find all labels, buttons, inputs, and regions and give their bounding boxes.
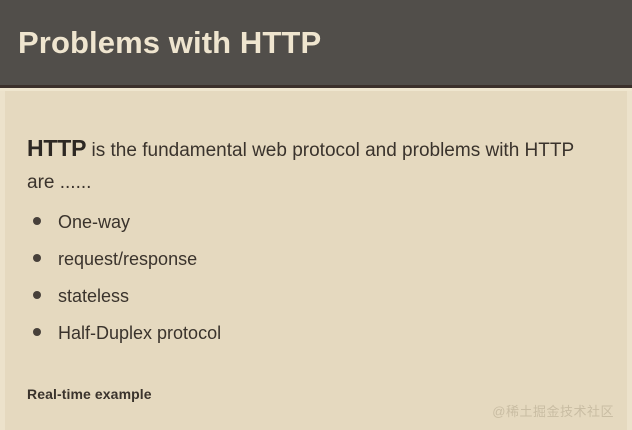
- list-item: request/response: [30, 246, 590, 283]
- slide-edge-right: [627, 91, 632, 430]
- slide-edge-left: [0, 91, 5, 430]
- page-title: Problems with HTTP: [18, 25, 321, 61]
- intro-body-text: is the fundamental web protocol and prob…: [27, 140, 574, 193]
- problems-list: One-way request/response stateless Half-…: [30, 209, 590, 357]
- list-item-label: One-way: [58, 209, 130, 235]
- intro-paragraph: HTTP is the fundamental web protocol and…: [27, 132, 602, 199]
- watermark: @稀土掘金技术社区: [492, 401, 614, 420]
- bullet-dot-icon: [33, 328, 41, 336]
- bullet-dot-icon: [33, 291, 41, 299]
- bullet-dot-icon: [33, 217, 41, 225]
- intro-lead-term: HTTP: [27, 135, 86, 161]
- list-item-label: Half-Duplex protocol: [58, 320, 221, 346]
- footnote-label: Real-time example: [27, 386, 152, 402]
- bullet-dot-icon: [33, 254, 41, 262]
- list-item-label: request/response: [58, 246, 197, 272]
- list-item: Half-Duplex protocol: [30, 320, 590, 357]
- list-item: One-way: [30, 209, 590, 246]
- list-item-label: stateless: [58, 283, 129, 309]
- list-item: stateless: [30, 283, 590, 320]
- slide: Problems with HTTP HTTP is the fundament…: [0, 0, 632, 430]
